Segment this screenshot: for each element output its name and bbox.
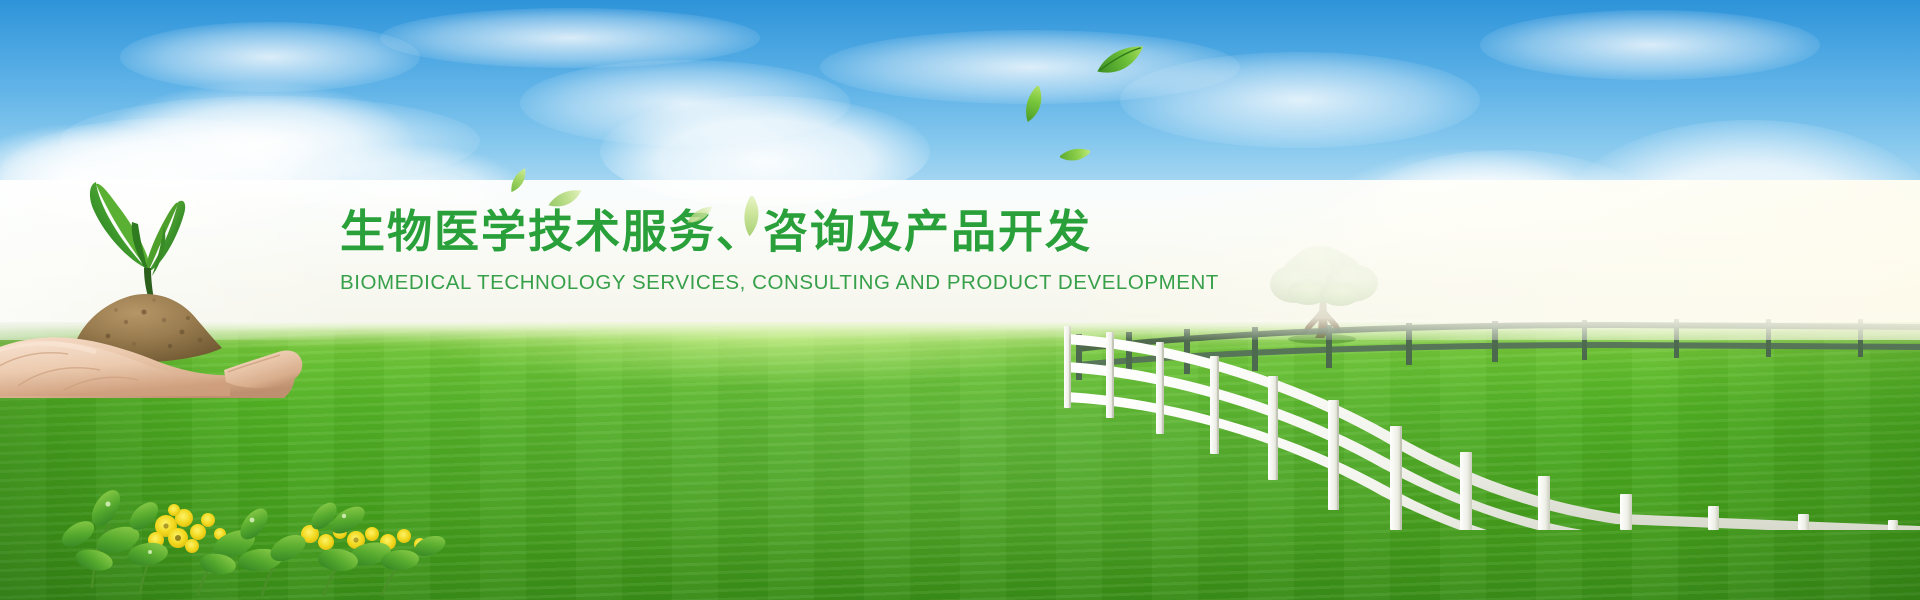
floating-leaf-4	[506, 168, 532, 199]
floating-leaf-7	[686, 202, 714, 235]
floating-leaf-1	[1096, 36, 1144, 89]
cloud-wisp-7	[1480, 10, 1820, 80]
page-title: 生物医学技术服务、咨询及产品开发	[340, 205, 1340, 260]
hand-holding-sapling	[0, 140, 308, 400]
floating-leaf-6	[732, 196, 772, 241]
cloud-wisp-2	[380, 8, 760, 68]
floating-leaf-5	[548, 182, 582, 221]
page-subtitle: BIOMEDICAL TECHNOLOGY SERVICES, CONSULTI…	[340, 271, 1340, 295]
yellow-flowers	[48, 448, 448, 600]
banner-text-block: 生物医学技术服务、咨询及产品开发 BIOMEDICAL TECHNOLOGY S…	[340, 205, 1340, 295]
cloud-wisp-1	[120, 22, 420, 92]
hero-banner: 生物医学技术服务、咨询及产品开发 BIOMEDICAL TECHNOLOGY S…	[0, 0, 1920, 600]
floating-leaf-3	[1060, 140, 1090, 175]
floating-leaf-2	[1016, 86, 1052, 127]
